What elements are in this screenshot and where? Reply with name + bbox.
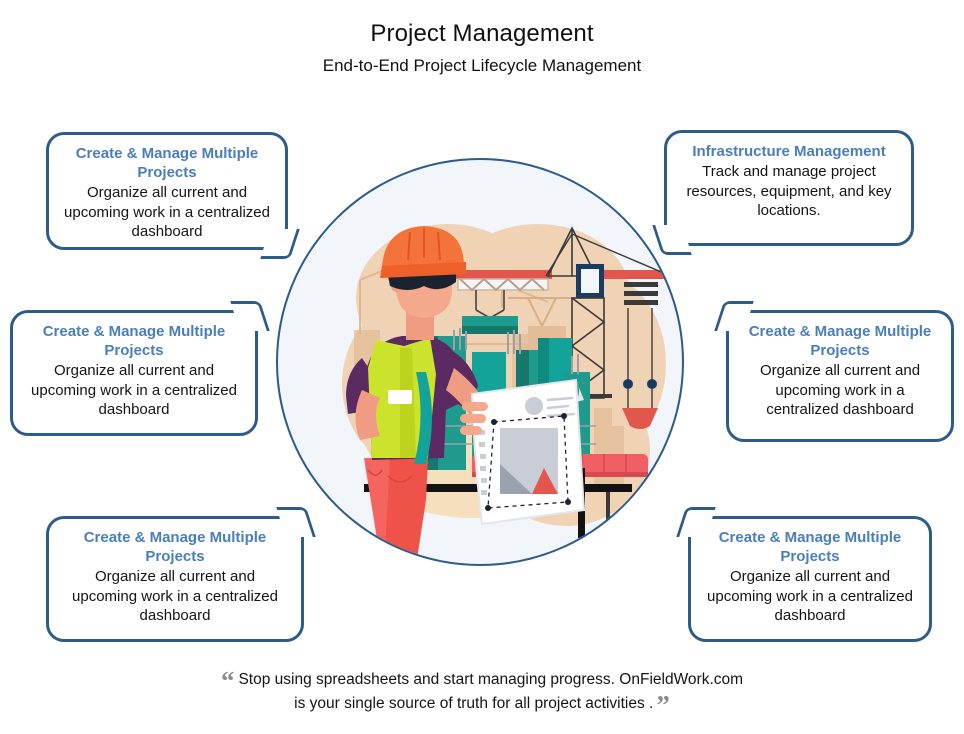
callout-bottom-left[interactable]: Create & Manage Multiple Projects Organi… [46,516,304,642]
callout-tail-bottom-left [652,225,692,255]
quote-close-icon: ” [656,690,670,720]
footer-quote: “Stop using spreadsheets and start manag… [0,668,964,716]
callout-heading: Create & Manage Multiple Projects [741,322,939,360]
callout-heading: Create & Manage Multiple Projects [61,528,289,566]
callout-bottom-right[interactable]: Create & Manage Multiple Projects Organi… [688,516,932,642]
callout-body: Track and manage project resources, equi… [679,162,899,221]
callout-middle-left[interactable]: Create & Manage Multiple Projects Organi… [10,310,258,436]
callout-heading: Create & Manage Multiple Projects [703,528,917,566]
callout-top-right[interactable]: Infrastructure Management Track and mana… [664,130,914,246]
quote-open-icon: “ [221,666,235,696]
callout-body: Organize all current and upcoming work i… [61,567,289,626]
quote-line-1: “Stop using spreadsheets and start manag… [0,668,964,692]
callout-body: Organize all current and upcoming work i… [741,361,939,420]
slide-canvas: Project Management End-to-End Project Li… [0,0,964,734]
quote-line-2: is your single source of truth for all p… [0,692,964,716]
callout-middle-right[interactable]: Create & Manage Multiple Projects Organi… [726,310,954,442]
callout-heading: Create & Manage Multiple Projects [25,322,243,360]
page-subtitle: End-to-End Project Lifecycle Management [0,56,964,76]
page-title: Project Management [0,20,964,48]
quote-line-2-text: is your single source of truth for all p… [294,695,653,712]
quote-line-1-text: Stop using spreadsheets and start managi… [238,671,743,688]
callout-body: Organize all current and upcoming work i… [703,567,917,626]
callout-heading: Infrastructure Management [679,142,899,161]
callout-heading: Create & Manage Multiple Projects [61,144,273,182]
callout-body: Organize all current and upcoming work i… [25,361,243,420]
callout-body: Organize all current and upcoming work i… [61,183,273,242]
callout-top-left[interactable]: Create & Manage Multiple Projects Organi… [46,132,288,250]
construction-worker-illustration [276,158,684,566]
